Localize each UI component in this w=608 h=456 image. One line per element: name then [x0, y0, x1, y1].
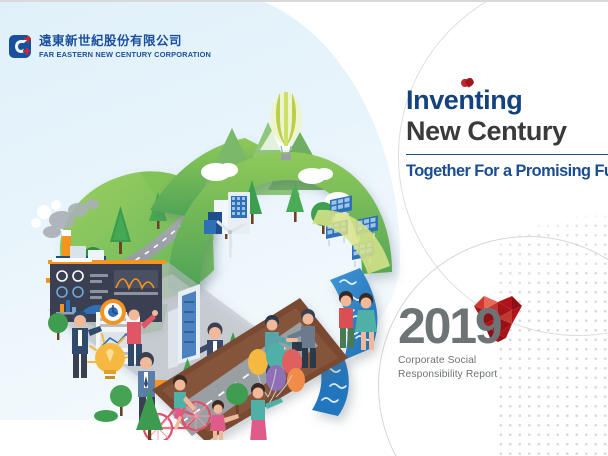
headline-divider [406, 154, 608, 156]
report-subtitle-line1: Corporate Social [398, 354, 500, 368]
brand-header: 遠東新世紀股份有限公司 FAR EASTERN NEW CENTURY CORP… [9, 34, 211, 59]
report-subtitle-line2: Responsibility Report [398, 368, 500, 382]
headline-line2: New Century [406, 116, 608, 146]
heart-illustration [0, 60, 420, 440]
headline-line1: Inventing [406, 86, 608, 115]
target-clock-icon [100, 299, 126, 325]
brand-name-en: FAR EASTERN NEW CENTURY CORPORATION [39, 51, 211, 58]
headline-block: Inventing New Century Together For a Pro… [406, 86, 608, 181]
headline-line1-text: Inventing [406, 85, 522, 115]
report-cover-page: 遠東新世紀股份有限公司 FAR EASTERN NEW CENTURY CORP… [0, 0, 608, 456]
person-red-shirt [339, 291, 354, 348]
fenc-logo-icon [9, 34, 33, 59]
headline-tagline: Together For a Promising Future [406, 162, 608, 181]
brand-name-zh: 遠東新世紀股份有限公司 [39, 35, 211, 48]
year-block: 2019 Corporate Social Responsibility Rep… [398, 303, 500, 382]
report-year: 2019 [398, 303, 500, 349]
heart-dot-icon [461, 77, 474, 89]
